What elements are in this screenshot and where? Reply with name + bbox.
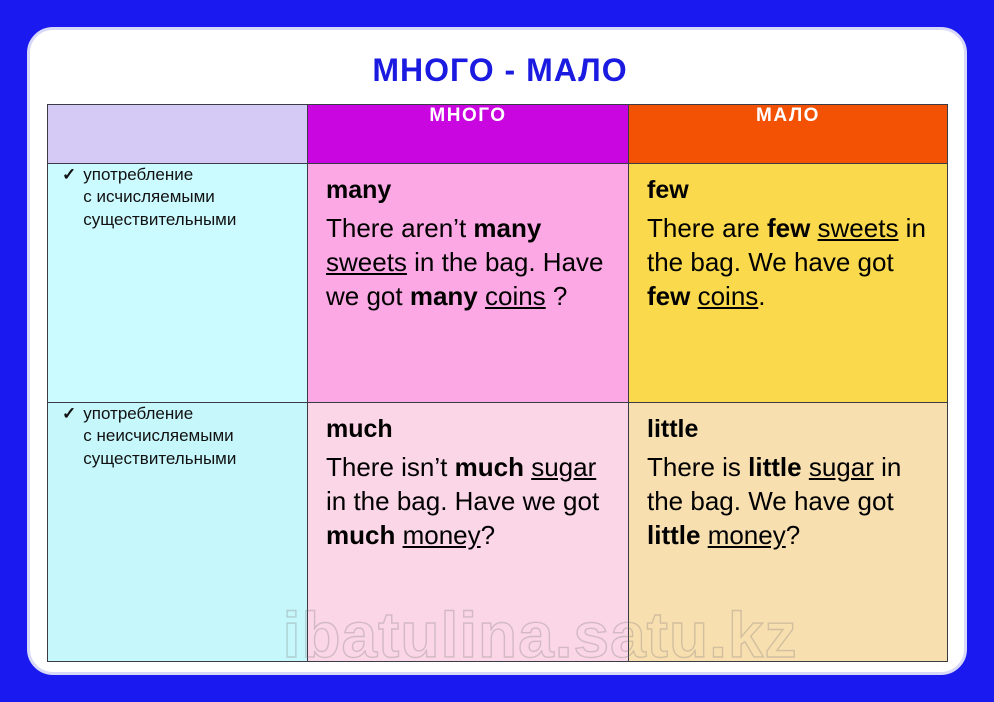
poster-frame: МНОГО - МАЛО МНОГО МАЛО ✓ употребление с…	[0, 0, 994, 702]
cell-much-example: much There isn’t much sugar in the bag. …	[308, 403, 629, 662]
row-label-text: употребление с исчисляемыми существитель…	[83, 164, 236, 231]
cell-many-example: many There aren’t many sweets in the bag…	[308, 164, 629, 403]
row-label-uncountable: ✓ употребление с неисчисляемыми существи…	[48, 403, 308, 662]
table-row: ✓ употребление с исчисляемыми существите…	[48, 164, 948, 403]
cell-little-example: little There is little sugar in the bag.…	[629, 403, 948, 662]
table-row: ✓ употребление с неисчисляемыми существи…	[48, 403, 948, 662]
check-icon: ✓	[62, 164, 76, 186]
row-label-text: употребление с неисчисляемыми существите…	[83, 403, 236, 470]
check-icon: ✓	[62, 403, 76, 425]
keyword-little: little	[647, 416, 935, 442]
header-cell-malo: МАЛО	[629, 105, 948, 164]
keyword-much: much	[326, 416, 616, 442]
table-header-row: МНОГО МАЛО	[48, 105, 948, 164]
sentence-few: There are few sweets in the bag. We have…	[647, 212, 935, 313]
comparison-table: МНОГО МАЛО ✓ употребление с исчисляемыми…	[47, 104, 948, 662]
header-cell-mnogo: МНОГО	[308, 105, 629, 164]
cell-few-example: few There are few sweets in the bag. We …	[629, 164, 948, 403]
sentence-little: There is little sugar in the bag. We hav…	[647, 451, 935, 552]
page-title: МНОГО - МАЛО	[30, 52, 967, 89]
row-label-countable: ✓ употребление с исчисляемыми существите…	[48, 164, 308, 403]
sentence-many: There aren’t many sweets in the bag. Hav…	[326, 212, 616, 313]
keyword-many: many	[326, 177, 616, 203]
header-cell-blank	[48, 105, 308, 164]
poster-panel: МНОГО - МАЛО МНОГО МАЛО ✓ употребление с…	[27, 27, 967, 675]
sentence-much: There isn’t much sugar in the bag. Have …	[326, 451, 616, 552]
keyword-few: few	[647, 177, 935, 203]
